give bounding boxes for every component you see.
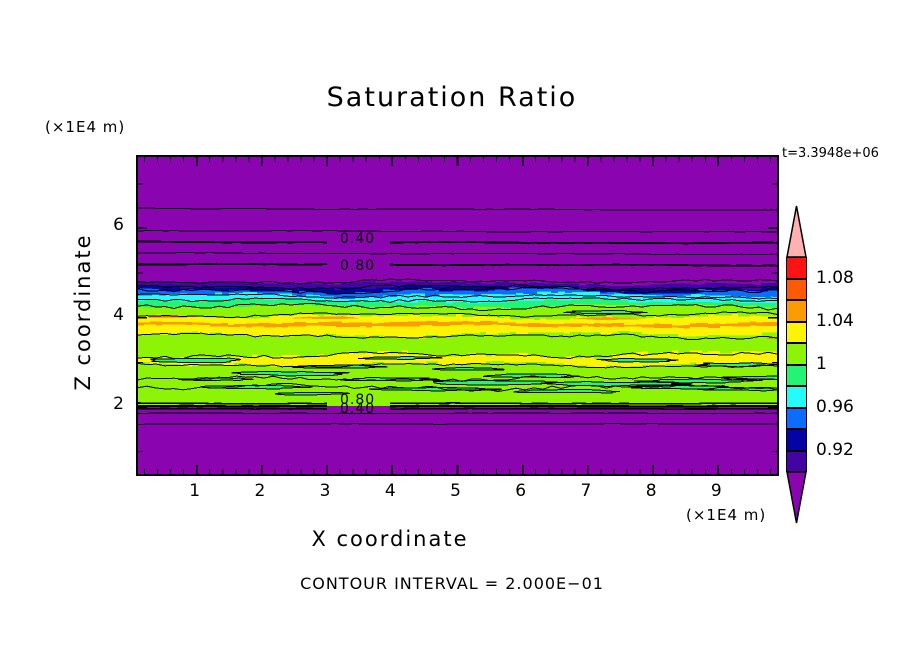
y-axis-unit-label: (×1E4 m): [45, 118, 125, 136]
x-tick-label: 3: [305, 481, 345, 501]
colorbar-tick-label: 0.92: [816, 440, 854, 460]
colorbar-tick-label: 1.08: [816, 268, 854, 288]
colorbar: 1.081.0410.960.92: [786, 205, 807, 522]
colorbar-band: [786, 343, 807, 365]
page-title: Saturation Ratio: [0, 82, 904, 113]
colorbar-tick-label: 0.96: [816, 397, 854, 417]
y-tick-label: 6: [94, 215, 124, 235]
colorbar-band: [786, 451, 807, 473]
contour-label: 0.40: [340, 231, 375, 247]
x-tick-label: 5: [436, 481, 476, 501]
colorbar-band: [786, 257, 807, 279]
x-tick-label: 8: [631, 481, 671, 501]
x-tick-label: 2: [240, 481, 280, 501]
x-tick-label: 4: [370, 481, 410, 501]
contour-label: 0.40: [340, 401, 375, 417]
timestamp-label: t=3.3948e+06: [782, 146, 879, 161]
colorbar-band: [786, 300, 807, 322]
y-tick-label: 4: [94, 305, 124, 325]
x-axis-title: X coordinate: [0, 527, 780, 551]
contour-field: [138, 157, 777, 474]
colorbar-bottom-arrow: [786, 472, 807, 524]
colorbar-tick-label: 1.04: [816, 311, 854, 331]
y-tick-label: 2: [94, 394, 124, 414]
x-tick-label: 7: [566, 481, 606, 501]
contour-interval-caption: CONTOUR INTERVAL = 2.000E−01: [0, 574, 904, 593]
colorbar-top-arrow: [786, 205, 807, 257]
colorbar-band: [786, 365, 807, 387]
x-tick-label: 6: [501, 481, 541, 501]
contour-label: 0.80: [340, 258, 375, 274]
colorbar-band: [786, 322, 807, 344]
colorbar-band: [786, 386, 807, 408]
colorbar-band: [786, 279, 807, 301]
x-axis-unit-label: (×1E4 m): [686, 506, 766, 524]
colorbar-band: [786, 408, 807, 430]
x-tick-label: 1: [175, 481, 215, 501]
colorbar-band: [786, 429, 807, 451]
y-axis-title: Z coordinate: [71, 202, 95, 422]
x-tick-label: 9: [696, 481, 736, 501]
colorbar-tick-label: 1: [816, 354, 827, 374]
contour-plot-area: [136, 155, 779, 476]
